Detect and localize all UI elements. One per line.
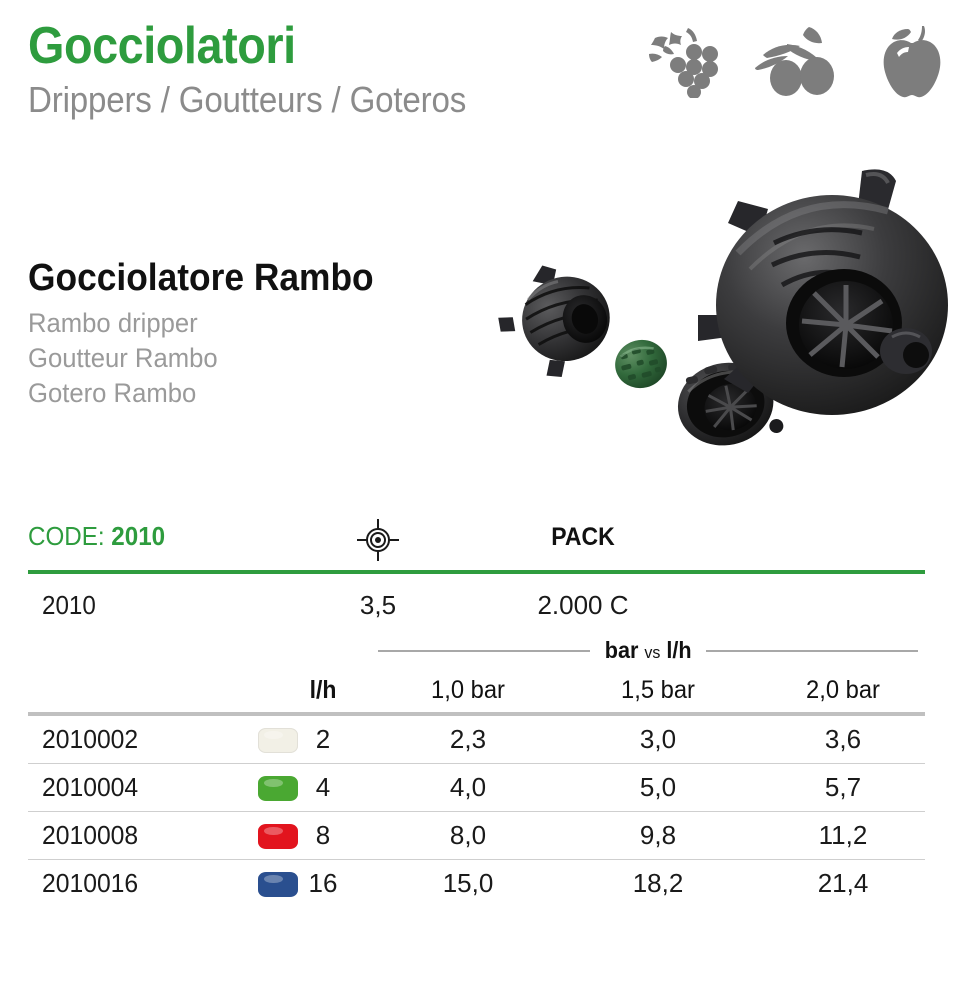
divider-line-right: [706, 650, 918, 652]
code-prefix: CODE:: [28, 521, 111, 551]
row-value-15bar: 5,0: [573, 764, 743, 811]
row-value-1bar: 8,0: [383, 812, 553, 859]
column-header-bar-3: 2,0 bar: [762, 672, 924, 708]
table-row: 2010002 2 2,3 3,0 3,6: [28, 716, 925, 764]
row-value-2bar: 5,7: [758, 764, 928, 811]
apple-icon: [877, 24, 949, 98]
pack-header: PACK: [500, 519, 666, 555]
code-label: CODE: 2010: [28, 518, 165, 554]
row-lh: 8: [278, 812, 368, 859]
product-photo: [470, 155, 970, 495]
row-value-2bar: 3,6: [758, 716, 928, 763]
row-code: 2010004: [42, 764, 138, 811]
row-value-1bar: 15,0: [383, 860, 553, 907]
column-header-lh: l/h: [282, 672, 365, 708]
summary-row: 2010 3,5 2.000 C: [28, 584, 925, 628]
code-value: 2010: [111, 521, 165, 551]
summary-flow: 3,5: [328, 584, 428, 626]
green-divider: [28, 570, 925, 574]
row-value-1bar: 2,3: [383, 716, 553, 763]
row-value-15bar: 3,0: [573, 716, 743, 763]
label-lh: l/h: [666, 637, 691, 663]
row-code: 2010008: [42, 812, 138, 859]
product-name-en: Rambo dripper: [28, 306, 475, 341]
table-row: 2010016 16 15,0 18,2 21,4: [28, 860, 925, 907]
product-title-block: Gocciolatore Rambo Rambo dripper Goutteu…: [28, 256, 498, 411]
row-lh: 16: [278, 860, 368, 907]
summary-code: 2010: [42, 584, 96, 626]
specs-table: l/h 1,0 bar 1,5 bar 2,0 bar 2010002 2 2,…: [28, 672, 925, 907]
row-lh: 4: [278, 764, 368, 811]
row-value-2bar: 21,4: [758, 860, 928, 907]
row-value-15bar: 9,8: [573, 812, 743, 859]
row-code: 2010016: [42, 860, 138, 907]
table-row: 2010004 4 4,0 5,0 5,7: [28, 764, 925, 812]
product-name-fr: Goutteur Rambo: [28, 341, 475, 376]
column-header-bar-2: 1,5 bar: [577, 672, 739, 708]
grapes-icon: [641, 24, 719, 98]
crop-icon-group: [641, 24, 949, 98]
label-bar: bar: [605, 637, 639, 663]
row-value-15bar: 18,2: [573, 860, 743, 907]
product-name-es: Gotero Rambo: [28, 376, 475, 411]
product-name: Gocciolatore Rambo: [28, 256, 465, 300]
catalog-page: Gocciolatori Drippers / Goutteurs / Gote…: [0, 0, 971, 983]
label-vs: vs: [644, 643, 660, 662]
row-value-1bar: 4,0: [383, 764, 553, 811]
row-value-2bar: 11,2: [758, 812, 928, 859]
row-lh: 2: [278, 716, 368, 763]
bar-vs-lh-divider: bar vs l/h: [378, 636, 918, 666]
code-bar: CODE: 2010 PACK: [28, 518, 925, 564]
column-header-bar-1: 1,0 bar: [387, 672, 549, 708]
divider-line-left: [378, 650, 590, 652]
bar-vs-lh-label: bar vs l/h: [605, 637, 692, 666]
row-code: 2010002: [42, 716, 138, 763]
summary-pack: 2.000 C: [493, 584, 673, 626]
table-row: 2010008 8 8,0 9,8 11,2: [28, 812, 925, 860]
olives-icon: [753, 24, 843, 98]
target-crosshair-icon: [348, 518, 408, 558]
table-header-row: l/h 1,0 bar 1,5 bar 2,0 bar: [28, 672, 925, 712]
